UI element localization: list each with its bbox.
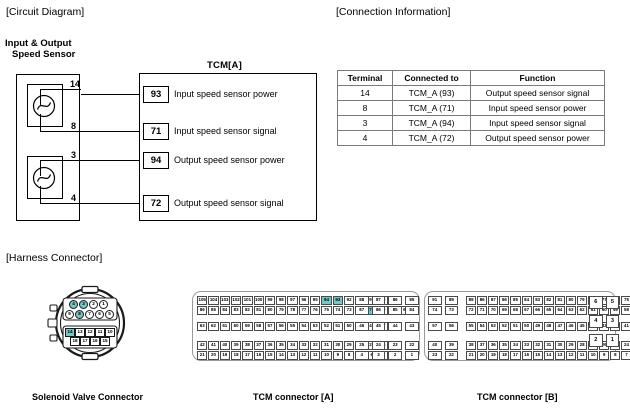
tcm-b-pin-63[interactable]: 63 [566, 306, 576, 315]
tcm-b-pin-72[interactable]: 72 [466, 306, 476, 315]
tcm-a-pin-82[interactable]: 82 [242, 306, 252, 315]
tcm-b-pin-18[interactable]: 18 [499, 351, 509, 360]
tcm-b-left-pin-23[interactable]: 23 [428, 351, 442, 360]
tcm-b-left-pin-22[interactable]: 22 [445, 351, 459, 360]
tcm-b-pin-88[interactable]: 88 [466, 296, 476, 305]
tcm-b-pin-85[interactable]: 85 [510, 296, 520, 305]
tcm-b-left-pin-39[interactable]: 39 [445, 341, 459, 350]
sensor-lead-3-h [40, 160, 81, 161]
tcm-b-pin-51[interactable]: 51 [510, 322, 520, 331]
tcm-b-pin-80[interactable]: 80 [566, 296, 576, 305]
tcm-a-pin-29[interactable]: 29 [344, 341, 354, 350]
tcm-b-pin-87[interactable]: 87 [488, 296, 498, 305]
tcm-b-pin-83[interactable]: 83 [533, 296, 543, 305]
tcm-b-pin-86[interactable]: 86 [477, 296, 487, 305]
tcm-a-pin-52[interactable]: 52 [321, 322, 331, 331]
tcm-a-pin-16[interactable]: 16 [254, 351, 264, 360]
tcm-b-pin-19[interactable]: 19 [488, 351, 498, 360]
tcm-a-pin-36[interactable]: 36 [265, 341, 275, 350]
heading-circuit-diagram: [Circuit Diagram] [6, 6, 84, 18]
tcm-a-pin-20[interactable]: 20 [208, 351, 218, 360]
tcm-b-pin-34[interactable]: 34 [510, 341, 520, 350]
tcm-b-pin-16[interactable]: 16 [522, 351, 532, 360]
tcm-a-pin-105[interactable]: 105 [197, 296, 207, 305]
sensor-terminal-4: 4 [71, 193, 76, 203]
solenoid-pin-17[interactable]: 17 [80, 337, 90, 346]
tcm-b-pin-79[interactable]: 79 [577, 296, 587, 305]
tcm-b-pin-20[interactable]: 20 [477, 351, 487, 360]
tcm-a-pin-101[interactable]: 101 [242, 296, 252, 305]
tcm-a-pin-81[interactable]: 81 [254, 306, 264, 315]
col-connected-to: Connected to [393, 71, 471, 86]
tcm-a-right-pin-86[interactable]: 86 [372, 306, 386, 315]
tcm-b-pin-38[interactable]: 38 [466, 341, 476, 350]
tcm-b-pin-12[interactable]: 12 [566, 351, 576, 360]
cell-connected-to: TCM_A (93) [393, 86, 471, 101]
sensor-terminal-14: 14 [70, 79, 80, 89]
tcm-a-pin-92[interactable]: 92 [344, 296, 354, 305]
tcm-a-pin-11[interactable]: 11 [310, 351, 320, 360]
tcm-a-pin-61[interactable]: 61 [220, 322, 230, 331]
tcm-a-pin-96[interactable]: 96 [299, 296, 309, 305]
tcm-pin-71: 71 [143, 123, 169, 140]
tcm-a-pin-95[interactable]: 95 [310, 296, 320, 305]
tcm-b-small-pin-3[interactable]: 3 [606, 315, 620, 328]
tcm-connector-b-caption: TCM connector [B] [477, 392, 558, 402]
tcm-b-small-pin-6[interactable]: 6 [589, 296, 603, 309]
tcm-a-pin-75[interactable]: 75 [321, 306, 331, 315]
tcm-b-pin-65[interactable]: 65 [544, 306, 554, 315]
tcm-a-pin-37[interactable]: 37 [254, 341, 264, 350]
tcm-b-pin-71[interactable]: 71 [477, 306, 487, 315]
tcm-b-small-pin-4[interactable]: 4 [589, 315, 603, 328]
tcm-b-pin-13[interactable]: 13 [555, 351, 565, 360]
solenoid-pin-14[interactable]: 14 [65, 328, 75, 337]
tcm-pin-94: 94 [143, 152, 169, 169]
sensor-lead-8 [40, 114, 41, 132]
tcm-a-right-pin-87[interactable]: 87 [372, 296, 386, 305]
tcm-b-small-pin-2[interactable]: 2 [589, 334, 603, 347]
sensor-lead-8-h [40, 131, 81, 132]
output-speed-sensor-icon [31, 165, 57, 191]
solenoid-valve-connector: 4 3 2 1 9 8 7 6 5 14 13 12 11 10 18 17 1… [38, 285, 142, 361]
col-terminal: Terminal [338, 71, 393, 86]
sensor-terminal-8: 8 [71, 121, 76, 131]
tcm-a-pin-62[interactable]: 62 [208, 322, 218, 331]
tcm-a-pin-55[interactable]: 55 [287, 322, 297, 331]
solenoid-pin-4[interactable]: 4 [69, 300, 78, 309]
tcm-a-pin-59[interactable]: 59 [242, 322, 252, 331]
tcm-a-pin-14[interactable]: 14 [276, 351, 286, 360]
tcm-a-pin-84[interactable]: 84 [220, 306, 230, 315]
tcm-b-pin-47[interactable]: 47 [555, 322, 565, 331]
sensor-lead-3 [40, 160, 41, 176]
cell-function: Output speed sensor signal [471, 86, 605, 101]
tcm-a-pin-63[interactable]: 63 [197, 322, 207, 331]
tcm-b-left-pin-73[interactable]: 73 [445, 306, 459, 315]
tcm-a-pin-41[interactable]: 41 [208, 341, 218, 350]
solenoid-pin-15[interactable]: 15 [100, 337, 110, 346]
cell-function: Input speed sensor power [471, 101, 605, 116]
tcm-a-right-pin-45[interactable]: 45 [372, 322, 386, 331]
page-root: [Circuit Diagram] [Connection Informatio… [0, 0, 630, 415]
tcm-a-right-pin-24[interactable]: 24 [372, 341, 386, 350]
cell-terminal: 8 [338, 101, 393, 116]
tcm-b-left-pin-40[interactable]: 40 [428, 341, 442, 350]
tcm-b-pin-11[interactable]: 11 [577, 351, 587, 360]
tcm-a-right-pin-87[interactable]: 87 [355, 306, 369, 315]
tcm-pin-72: 72 [143, 195, 169, 212]
tcm-b-pin-21[interactable]: 21 [466, 351, 476, 360]
tcm-a-pin-76[interactable]: 76 [310, 306, 320, 315]
tcm-a-right-pin-86[interactable]: 86 [388, 296, 402, 305]
tcm-b-pin-82[interactable]: 82 [544, 296, 554, 305]
tcm-a-pin-8[interactable]: 8 [344, 351, 354, 360]
tcm-b-pin-46[interactable]: 46 [566, 322, 576, 331]
tcm-b-pin-70[interactable]: 70 [488, 306, 498, 315]
tcm-b-left-pin-56[interactable]: 56 [445, 322, 459, 331]
tcm-a-pin-13[interactable]: 13 [287, 351, 297, 360]
tcm-b-pin-55[interactable]: 55 [466, 322, 476, 331]
solenoid-pin-2[interactable]: 2 [89, 300, 98, 309]
tcm-a-pin-54[interactable]: 54 [299, 322, 309, 331]
tcm-a-right-pin-88[interactable]: 88 [355, 296, 369, 305]
tcm-a-pin-31[interactable]: 31 [321, 341, 331, 350]
tcm-a-right-pin-2[interactable]: 2 [388, 351, 402, 360]
tcm-a-pin-104[interactable]: 104 [208, 296, 218, 305]
tcm-b-pin-84[interactable]: 84 [522, 296, 532, 305]
tcm-a-pin-99[interactable]: 99 [265, 296, 275, 305]
solenoid-pin-3[interactable]: 3 [79, 300, 88, 309]
tcm-a-pin-79[interactable]: 79 [276, 306, 286, 315]
tcm-b-pin-64[interactable]: 64 [555, 306, 565, 315]
sensor-lead-14 [40, 89, 41, 105]
tcm-b-small-pin-5[interactable]: 5 [606, 296, 620, 309]
tcm-a-right-pin-22[interactable]: 22 [405, 341, 419, 350]
tcm-a-pin-74[interactable]: 74 [333, 306, 343, 315]
sensor-label-line1: Input & Output [5, 38, 71, 49]
tcm-a-pin-17[interactable]: 17 [242, 351, 252, 360]
tcm-a-pin-57[interactable]: 57 [265, 322, 275, 331]
tcm-a-pin-78[interactable]: 78 [287, 306, 297, 315]
sensor-lead-4 [40, 186, 41, 204]
tcm-a-pin-42[interactable]: 42 [197, 341, 207, 350]
solenoid-pin-7[interactable]: 7 [85, 310, 94, 319]
tcm-b-pin-81[interactable]: 81 [555, 296, 565, 305]
tcm-b-pin-15[interactable]: 15 [533, 351, 543, 360]
tcm-b-pin-9[interactable]: 9 [599, 351, 609, 360]
tcm-a-pin-19[interactable]: 19 [220, 351, 230, 360]
tcm-a-right-pin-4[interactable]: 4 [355, 351, 369, 360]
tcm-b-small-pin-1[interactable]: 1 [606, 334, 620, 347]
tcm-a-pin-102[interactable]: 102 [231, 296, 241, 305]
tcm-a-pin-15[interactable]: 15 [265, 351, 275, 360]
table-row: 8 TCM_A (71) Input speed sensor power [338, 101, 605, 116]
tcm-a-pin-103[interactable]: 103 [220, 296, 230, 305]
tcm-a-pin-50[interactable]: 50 [344, 322, 354, 331]
tcm-b-pin-14[interactable]: 14 [544, 351, 554, 360]
tcm-a-pin-30[interactable]: 30 [333, 341, 343, 350]
heading-harness-connector: [Harness Connector] [6, 252, 102, 264]
tcm-a-pin-97[interactable]: 97 [287, 296, 297, 305]
tcm-b-pin-35[interactable]: 35 [499, 341, 509, 350]
table-row: 4 TCM_A (72) Output speed sensor power [338, 131, 605, 146]
tcm-a-pin-51[interactable]: 51 [333, 322, 343, 331]
solenoid-pin-5[interactable]: 5 [105, 310, 114, 319]
solenoid-pin-16[interactable]: 16 [90, 337, 100, 346]
heading-connection-information: [Connection Information] [336, 6, 450, 18]
tcm-a-pin-58[interactable]: 58 [254, 322, 264, 331]
tcm-a-pin-35[interactable]: 35 [276, 341, 286, 350]
solenoid-connector-outline [38, 285, 142, 361]
tcm-a-pin-9[interactable]: 9 [333, 351, 343, 360]
tcm-b-pin-29[interactable]: 29 [566, 341, 576, 350]
tcm-a-pin-18[interactable]: 18 [231, 351, 241, 360]
cell-terminal: 3 [338, 116, 393, 131]
tcm-b-pin-37[interactable]: 37 [477, 341, 487, 350]
tcm-a-pin-12[interactable]: 12 [299, 351, 309, 360]
tcm-a-pin-77[interactable]: 77 [299, 306, 309, 315]
solenoid-pin-9[interactable]: 9 [65, 310, 74, 319]
cell-terminal: 14 [338, 86, 393, 101]
tcm-a-pin-83[interactable]: 83 [231, 306, 241, 315]
solenoid-pin-13[interactable]: 13 [75, 328, 85, 337]
sensor-lead-14-h [40, 89, 81, 90]
cell-function: Input speed sensor signal [471, 116, 605, 131]
table-header-row: Terminal Connected to Function [338, 71, 605, 86]
sensor-lead-4-h [40, 203, 81, 204]
tcm-b-pin-41[interactable]: 41 [621, 322, 630, 331]
tcm-a-pin-38[interactable]: 38 [242, 341, 252, 350]
tcm-pin-72-label: Output speed sensor signal [174, 195, 284, 212]
tcm-a-pin-53[interactable]: 53 [310, 322, 320, 331]
solenoid-pin-18[interactable]: 18 [70, 337, 80, 346]
tcm-a-pin-40[interactable]: 40 [220, 341, 230, 350]
tcm-a-right-pin-84[interactable]: 84 [405, 306, 419, 315]
tcm-a-pin-34[interactable]: 34 [287, 341, 297, 350]
tcm-a-right-pin-3[interactable]: 3 [372, 351, 386, 360]
tcm-a-pin-60[interactable]: 60 [231, 322, 241, 331]
tcm-b-pin-24[interactable]: 24 [621, 341, 630, 350]
wire-14-to-93 [81, 94, 139, 95]
solenoid-connector-caption: Solenoid Valve Connector [32, 392, 143, 402]
tcm-a-right-pin-44[interactable]: 44 [388, 322, 402, 331]
tcm-b-left-pin-74[interactable]: 74 [428, 306, 442, 315]
tcm-a-right-pin-85[interactable]: 85 [405, 296, 419, 305]
solenoid-pin-10[interactable]: 10 [105, 328, 115, 337]
tcm-a-pin-56[interactable]: 56 [276, 322, 286, 331]
cell-terminal: 4 [338, 131, 393, 146]
tcm-a-pin-100[interactable]: 100 [254, 296, 264, 305]
tcm-b-pin-75[interactable]: 75 [621, 296, 630, 305]
table-row: 14 TCM_A (93) Output speed sensor signal [338, 86, 605, 101]
tcm-b-pin-33[interactable]: 33 [522, 341, 532, 350]
tcm-a-pin-32[interactable]: 32 [310, 341, 320, 350]
wire-3-to-94 [81, 160, 139, 161]
solenoid-pin-11[interactable]: 11 [95, 328, 105, 337]
tcm-b-pin-48[interactable]: 48 [544, 322, 554, 331]
input-speed-sensor-icon [31, 93, 57, 119]
tcm-b-left-pin-89[interactable]: 89 [445, 296, 459, 305]
tcm-b-pin-69[interactable]: 69 [499, 306, 509, 315]
tcm-a-right-pin-23[interactable]: 23 [388, 341, 402, 350]
tcm-a-pin-94[interactable]: 94 [321, 296, 331, 305]
tcm-a-pin-10[interactable]: 10 [321, 351, 331, 360]
tcm-b-pin-36[interactable]: 36 [488, 341, 498, 350]
tcm-a-right-pin-46[interactable]: 46 [355, 322, 369, 331]
sensor-terminal-3: 3 [71, 150, 76, 160]
tcm-a-pin-39[interactable]: 39 [231, 341, 241, 350]
tcm-b-left-pin-57[interactable]: 57 [428, 322, 442, 331]
tcm-b-pin-32[interactable]: 32 [533, 341, 543, 350]
table-row: 3 TCM_A (94) Input speed sensor signal [338, 116, 605, 131]
solenoid-pin-12[interactable]: 12 [85, 328, 95, 337]
tcm-b-pin-8[interactable]: 8 [610, 351, 620, 360]
tcm-pin-71-label: Input speed sensor signal [174, 123, 277, 140]
solenoid-pin-8[interactable]: 8 [75, 310, 84, 319]
cell-connected-to: TCM_A (71) [393, 101, 471, 116]
tcm-b-pin-7[interactable]: 7 [621, 351, 630, 360]
tcm-b-pin-86[interactable]: 86 [499, 296, 509, 305]
tcm-a-pin-21[interactable]: 21 [197, 351, 207, 360]
tcm-a-pin-86[interactable]: 86 [197, 306, 207, 315]
tcm-a-right-pin-25[interactable]: 25 [355, 341, 369, 350]
tcm-a-pin-98[interactable]: 98 [276, 296, 286, 305]
tcm-b-pin-45[interactable]: 45 [577, 322, 587, 331]
tcm-b-pin-10[interactable]: 10 [588, 351, 598, 360]
cell-connected-to: TCM_A (94) [393, 116, 471, 131]
solenoid-pin-6[interactable]: 6 [95, 310, 104, 319]
wire-8-to-71 [81, 131, 139, 132]
tcm-pin-94-label: Output speed sensor power [174, 152, 285, 169]
tcm-b-pin-62[interactable]: 62 [577, 306, 587, 315]
tcm-b-pin-30[interactable]: 30 [555, 341, 565, 350]
tcm-b-pin-17[interactable]: 17 [510, 351, 520, 360]
tcm-a-pin-73[interactable]: 73 [344, 306, 354, 315]
tcm-a-right-pin-1[interactable]: 1 [405, 351, 419, 360]
tcm-b-pin-28[interactable]: 28 [577, 341, 587, 350]
tcm-b-pin-67[interactable]: 67 [522, 306, 532, 315]
col-function: Function [471, 71, 605, 86]
sensor-label-line2: Speed Sensor [12, 49, 75, 60]
tcm-b-left-pin-91[interactable]: 91 [428, 296, 442, 305]
tcm-b-pin-58[interactable]: 58 [621, 306, 630, 315]
tcm-a-title: TCM[A] [207, 60, 242, 71]
tcm-b-pin-66[interactable]: 66 [533, 306, 543, 315]
tcm-pin-93-label: Input speed sensor power [174, 86, 278, 103]
tcm-b-pin-50[interactable]: 50 [522, 322, 532, 331]
tcm-b-pin-68[interactable]: 68 [510, 306, 520, 315]
tcm-b-pin-54[interactable]: 54 [477, 322, 487, 331]
cell-function: Output speed sensor power [471, 131, 605, 146]
tcm-b-pin-53[interactable]: 53 [488, 322, 498, 331]
connection-information-table: Terminal Connected to Function 14 TCM_A … [337, 70, 605, 146]
solenoid-pin-1[interactable]: 1 [99, 300, 108, 309]
tcm-a-right-pin-43[interactable]: 43 [405, 322, 419, 331]
tcm-connector-a-caption: TCM connector [A] [253, 392, 334, 402]
cell-connected-to: TCM_A (72) [393, 131, 471, 146]
tcm-b-pin-49[interactable]: 49 [533, 322, 543, 331]
tcm-pin-93: 93 [143, 86, 169, 103]
tcm-a-pin-33[interactable]: 33 [299, 341, 309, 350]
tcm-a-pin-93[interactable]: 93 [333, 296, 343, 305]
tcm-a-right-pin-85[interactable]: 85 [388, 306, 402, 315]
wire-4-to-72 [81, 203, 139, 204]
tcm-b-pin-52[interactable]: 52 [499, 322, 509, 331]
tcm-a-pin-80[interactable]: 80 [265, 306, 275, 315]
tcm-a-pin-85[interactable]: 85 [208, 306, 218, 315]
tcm-b-pin-31[interactable]: 31 [544, 341, 554, 350]
